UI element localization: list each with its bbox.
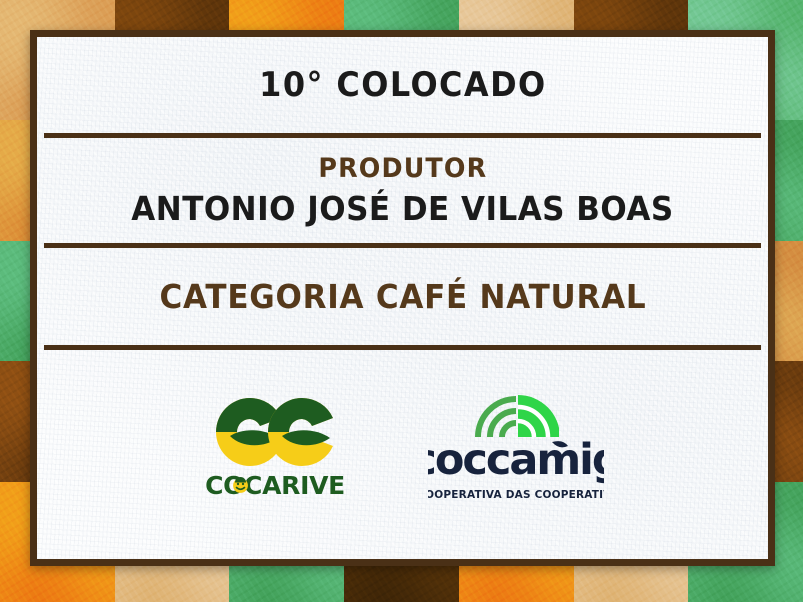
category-band: CATEGORIA CAFÉ NATURAL [37, 248, 768, 345]
logos-row: COCARIVE [37, 390, 768, 502]
coccamig-wordmark: coccamig [428, 439, 604, 485]
coccamig-logo: coccamig A COOPERATIVA DAS COOPERATIVAS [428, 390, 604, 502]
cocarive-wordmark: COCARIVE [202, 473, 348, 499]
cocarive-mark-icon [202, 392, 348, 472]
cocarive-logo: COCARIVE [202, 392, 348, 499]
rank-title: 10° COLOCADO [259, 65, 546, 105]
producer-label: PRODUTOR [318, 153, 487, 184]
coccamig-tagline: A COOPERATIVA DAS COOPERATIVAS [428, 486, 604, 502]
svg-text:coccamig: coccamig [428, 439, 604, 485]
svg-text:A COOPERATIVA DAS COOPERATIVAS: A COOPERATIVA DAS COOPERATIVAS [428, 489, 604, 501]
logos-band: COCARIVE [37, 350, 768, 559]
rank-band: 10° COLOCADO [37, 37, 768, 133]
producer-name: ANTONIO JOSÉ DE VILAS BOAS [131, 189, 673, 228]
certificate-stage: 10° COLOCADO PRODUTOR ANTONIO JOSÉ DE VI… [0, 0, 803, 602]
coccamig-arc-icon [473, 390, 559, 438]
category-title: CATEGORIA CAFÉ NATURAL [159, 277, 646, 316]
svg-text:COCARIVE: COCARIVE [205, 473, 345, 499]
certificate-card: 10° COLOCADO PRODUTOR ANTONIO JOSÉ DE VI… [30, 30, 775, 566]
producer-band: PRODUTOR ANTONIO JOSÉ DE VILAS BOAS [37, 138, 768, 243]
